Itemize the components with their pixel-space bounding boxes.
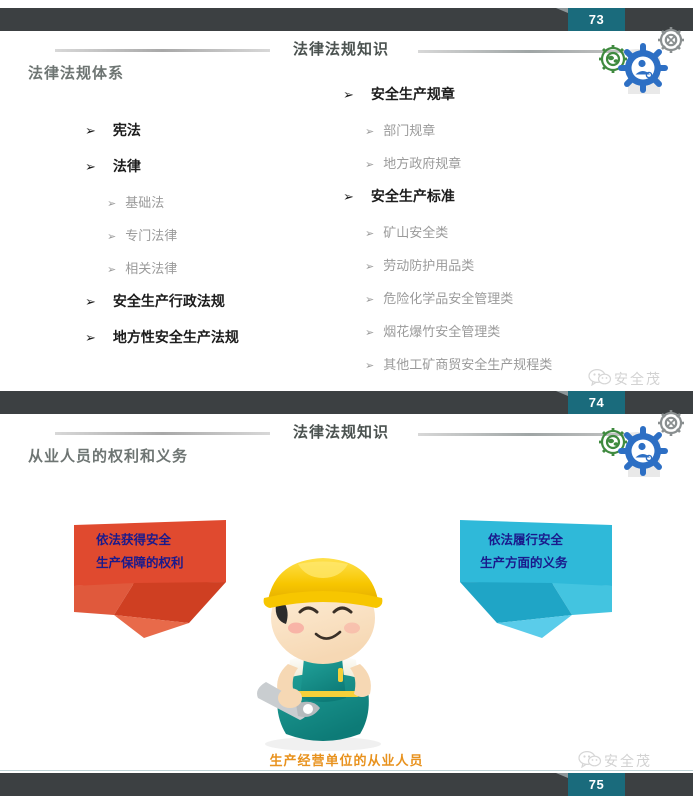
banner-rights: 依法获得安全 生产保障的权利 bbox=[74, 520, 254, 638]
cartoon-worker-icon bbox=[228, 548, 418, 753]
gear-cluster-decoration-74 bbox=[588, 407, 693, 477]
bullet-arrow-icon: ➢ bbox=[107, 263, 116, 276]
bullet-item-label: 地方性安全生产法规 bbox=[113, 327, 239, 347]
header-rule-left bbox=[55, 432, 270, 435]
slide-74-title: 法律法规知识 bbox=[293, 421, 389, 442]
bullet-item-label: 部门规章 bbox=[383, 120, 435, 139]
bullet-arrow-icon: ➢ bbox=[365, 227, 374, 240]
gear-cluster-icon bbox=[588, 407, 693, 477]
bullet-item-level1: ➢安全生产规章 bbox=[343, 84, 455, 104]
bullet-item-level2: ➢基础法 bbox=[107, 192, 164, 211]
gear-person-icon bbox=[621, 429, 665, 473]
page-tab-notch bbox=[556, 773, 568, 778]
bullet-arrow-icon: ➢ bbox=[365, 260, 374, 273]
bullet-item-label: 法律 bbox=[113, 156, 141, 176]
banner-obligations-line2: 生产方面的义务 bbox=[480, 552, 568, 575]
bullet-arrow-icon: ➢ bbox=[365, 359, 374, 372]
bullet-item-level2: ➢危险化学品安全管理类 bbox=[365, 288, 513, 307]
bullet-item-label: 地方政府规章 bbox=[383, 153, 461, 172]
bullet-item-level2: ➢相关法律 bbox=[107, 258, 177, 277]
wechat-bubble-icon bbox=[578, 750, 602, 768]
bullet-item-label: 宪法 bbox=[113, 120, 141, 140]
bullet-item-label: 安全生产标准 bbox=[371, 186, 455, 206]
bullet-arrow-icon: ➢ bbox=[365, 125, 374, 138]
bullet-item-label: 相关法律 bbox=[125, 258, 177, 277]
bullet-arrow-icon: ➢ bbox=[85, 294, 96, 310]
bullet-item-label: 其他工矿商贸安全生产规程类 bbox=[383, 354, 552, 373]
gear-cluster-icon bbox=[588, 24, 693, 94]
bullet-item-label: 烟花爆竹安全管理类 bbox=[383, 321, 500, 340]
worker-mascot-illustration bbox=[228, 548, 418, 753]
gear-cluster-decoration-73 bbox=[588, 24, 693, 94]
banner-rights-line1: 依法获得安全 bbox=[96, 529, 171, 552]
bullet-arrow-icon: ➢ bbox=[365, 326, 374, 339]
slide-74-subtitle: 从业人员的权利和义务 bbox=[28, 445, 188, 466]
bullet-arrow-icon: ➢ bbox=[365, 293, 374, 306]
bullet-item-level2: ➢部门规章 bbox=[365, 120, 435, 139]
bullet-arrow-icon: ➢ bbox=[107, 197, 116, 210]
bullet-item-level1: ➢地方性安全生产法规 bbox=[85, 327, 239, 347]
bullet-item-level2: ➢地方政府规章 bbox=[365, 153, 461, 172]
bullet-item-label: 安全生产行政法规 bbox=[113, 291, 225, 311]
bullet-item-level2: ➢其他工矿商贸安全生产规程类 bbox=[365, 354, 552, 373]
wechat-bubble-icon bbox=[588, 368, 612, 386]
bullet-item-level2: ➢矿山安全类 bbox=[365, 222, 448, 241]
gear-person-icon bbox=[621, 46, 665, 90]
bullet-item-label: 专门法律 bbox=[125, 225, 177, 244]
gear-tools-icon bbox=[658, 410, 684, 436]
bullet-arrow-icon: ➢ bbox=[365, 158, 374, 171]
bullet-item-level1: ➢安全生产行政法规 bbox=[85, 291, 225, 311]
header-rule-left bbox=[55, 49, 270, 52]
bullet-item-level1: ➢安全生产标准 bbox=[343, 186, 455, 206]
bullet-item-label: 矿山安全类 bbox=[383, 222, 448, 241]
banner-obligations: 依法履行安全 生产方面的义务 bbox=[432, 520, 612, 638]
page-bar-bottom: 75 bbox=[0, 773, 693, 796]
bullet-item-level1: ➢法律 bbox=[85, 156, 141, 176]
watermark-text: 安全茂 bbox=[614, 369, 662, 389]
banner-obligations-line1: 依法履行安全 bbox=[488, 529, 563, 552]
bullet-arrow-icon: ➢ bbox=[343, 87, 354, 103]
bullet-arrow-icon: ➢ bbox=[85, 330, 96, 346]
bullet-item-label: 危险化学品安全管理类 bbox=[383, 288, 513, 307]
gear-tools-icon bbox=[658, 27, 684, 53]
watermark-text: 安全茂 bbox=[604, 751, 652, 771]
bullet-item-label: 劳动防护用品类 bbox=[383, 255, 474, 274]
bullet-item-level2: ➢劳动防护用品类 bbox=[365, 255, 474, 274]
bullet-arrow-icon: ➢ bbox=[85, 159, 96, 175]
bullet-arrow-icon: ➢ bbox=[85, 123, 96, 139]
page-number-75: 75 bbox=[568, 773, 625, 796]
bullet-item-level2: ➢专门法律 bbox=[107, 225, 177, 244]
bullet-arrow-icon: ➢ bbox=[343, 189, 354, 205]
slide-73-subtitle: 法律法规体系 bbox=[28, 62, 124, 83]
bullet-item-level1: ➢宪法 bbox=[85, 120, 141, 140]
bullet-item-label: 基础法 bbox=[125, 192, 164, 211]
banner-rights-line2: 生产保障的权利 bbox=[96, 552, 184, 575]
page-tab-notch bbox=[556, 391, 568, 396]
bottom-divider bbox=[0, 770, 693, 771]
bullet-item-level2: ➢烟花爆竹安全管理类 bbox=[365, 321, 500, 340]
page-tab-notch bbox=[556, 8, 568, 13]
bullet-arrow-icon: ➢ bbox=[107, 230, 116, 243]
slide-73-title: 法律法规知识 bbox=[293, 38, 389, 59]
bullet-item-label: 安全生产规章 bbox=[371, 84, 455, 104]
